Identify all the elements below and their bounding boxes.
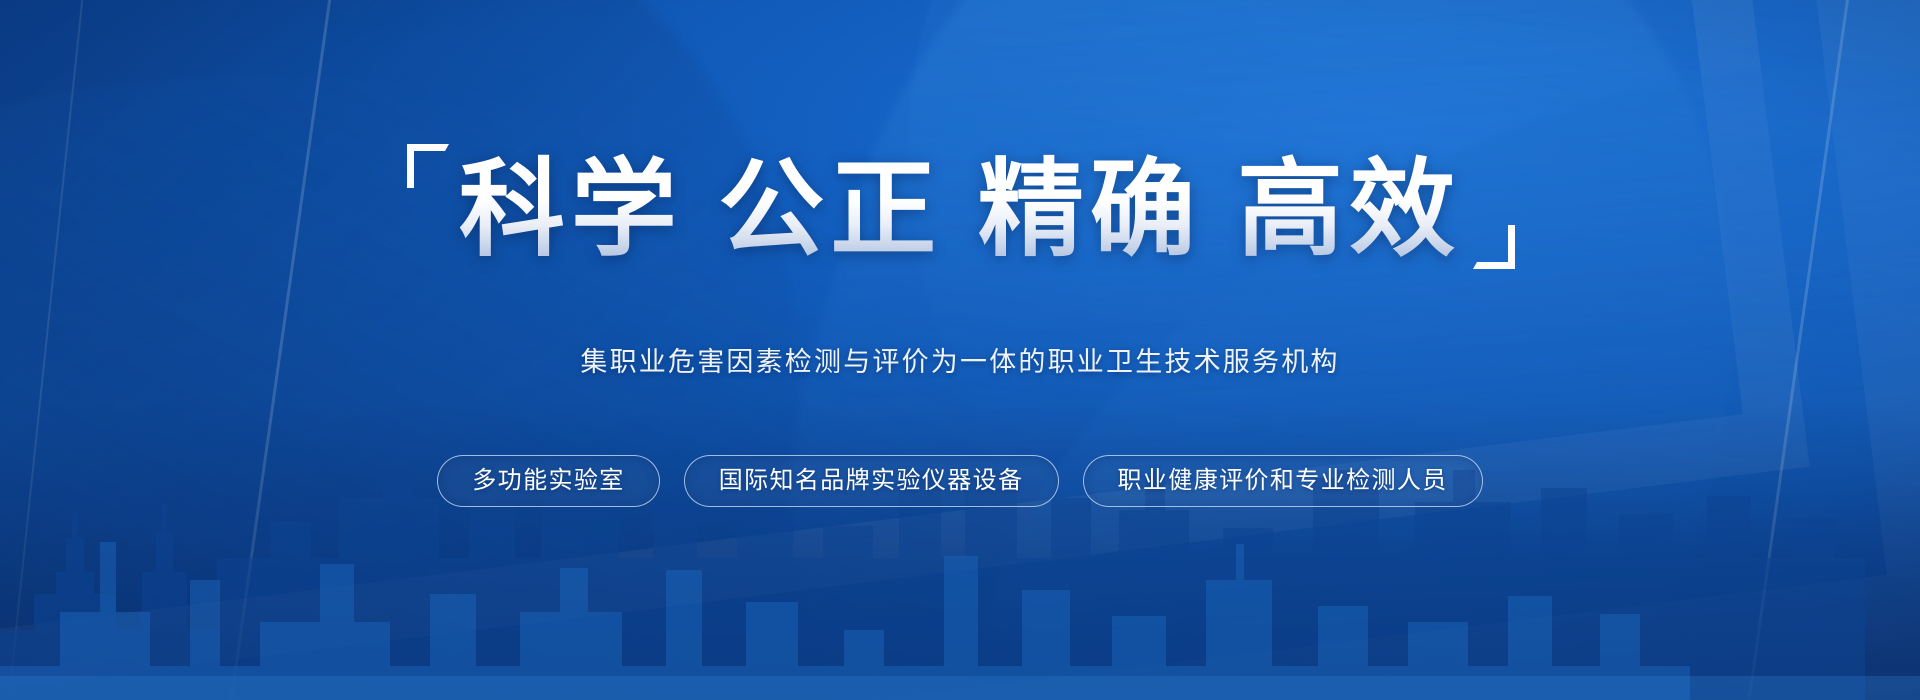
corner-quote-close-icon [1473, 225, 1517, 271]
page-title: 科学 公正 精确 高效 [459, 148, 1461, 273]
feature-pill-personnel[interactable]: 职业健康评价和专业检测人员 [1083, 455, 1483, 507]
banner-subtitle: 集职业危害因素检测与评价为一体的职业卫生技术服务机构 [0, 340, 1920, 379]
feature-pill-lab[interactable]: 多功能实验室 [437, 455, 659, 507]
corner-quote-open-icon [405, 142, 449, 188]
feature-pill-equipment[interactable]: 国际知名品牌实验仪器设备 [684, 455, 1059, 507]
title-wrapper: 科学 公正 精确 高效 [413, 148, 1507, 273]
title-block: 科学 公正 精确 高效 [0, 148, 1920, 273]
hero-banner: 科学 公正 精确 高效 集职业危害因素检测与评价为一体的职业卫生技术服务机构 多… [0, 0, 1920, 700]
feature-pill-list: 多功能实验室 国际知名品牌实验仪器设备 职业健康评价和专业检测人员 [0, 455, 1920, 507]
banner-content: 科学 公正 精确 高效 集职业危害因素检测与评价为一体的职业卫生技术服务机构 多… [0, 0, 1920, 700]
